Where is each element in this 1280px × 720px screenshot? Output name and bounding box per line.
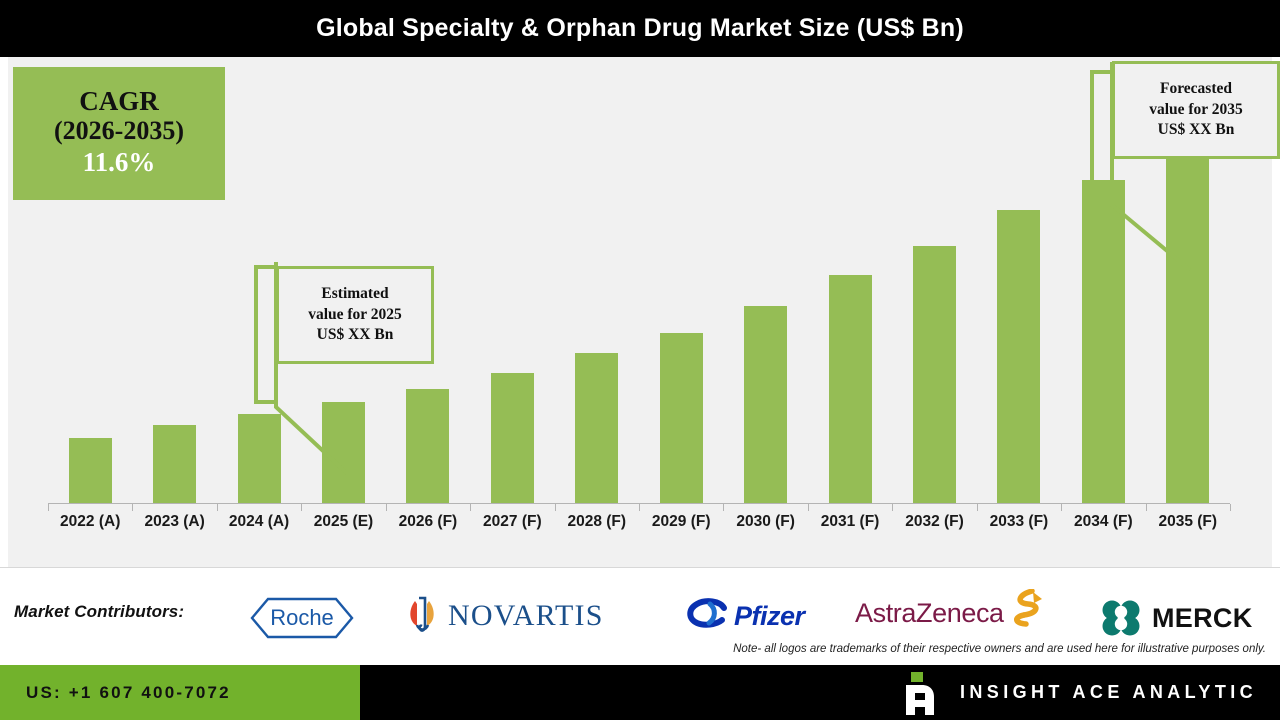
- pfizer-wordmark: Pfizer: [734, 601, 805, 632]
- x-axis-tick: [1061, 504, 1062, 511]
- market-contributors-label: Market Contributors:: [14, 602, 184, 622]
- bar-2032[interactable]: [913, 246, 956, 503]
- x-axis-tick: [723, 504, 724, 511]
- x-axis-tick: [470, 504, 471, 511]
- pfizer-swirl-icon: [686, 598, 730, 634]
- callout-forecasted-line1: Forecasted: [1160, 79, 1232, 99]
- footer-phone-number[interactable]: US: +1 607 400-7072: [26, 683, 231, 703]
- logo-roche: Roche: [250, 597, 354, 639]
- callout-estimated-line2: value for 2025: [308, 305, 402, 325]
- x-axis-tick: [639, 504, 640, 511]
- x-axis-tick: [217, 504, 218, 511]
- astrazeneca-ribbon-icon: [1002, 589, 1044, 629]
- page-title: Global Specialty & Orphan Drug Market Si…: [316, 14, 964, 43]
- footer-bar: US: +1 607 400-7072 INSIGHT ACE ANALYTIC: [0, 665, 1280, 720]
- bar-2028[interactable]: [575, 353, 618, 503]
- x-axis-tick: [808, 504, 809, 511]
- bar-2030[interactable]: [744, 306, 787, 503]
- bar-2031[interactable]: [829, 275, 872, 503]
- logo-astrazeneca: AstraZeneca: [855, 598, 1044, 629]
- bar-2035[interactable]: [1166, 137, 1209, 503]
- bar-2023[interactable]: [153, 425, 196, 503]
- x-axis-tick: [1230, 504, 1231, 511]
- callout-forecasted-2035: Forecasted value for 2035 US$ XX Bn: [1112, 61, 1280, 159]
- footer-brand-name: INSIGHT ACE ANALYTIC: [960, 682, 1257, 703]
- x-axis-tick: [301, 504, 302, 511]
- logo-novartis: NOVARTIS: [405, 596, 604, 636]
- callout-estimated-2025: Estimated value for 2025 US$ XX Bn: [276, 266, 434, 364]
- bar-2024[interactable]: [238, 414, 281, 503]
- market-contributors-strip: Market Contributors: Roche NOVARTIS Pfiz…: [0, 567, 1280, 665]
- bar-2025[interactable]: [322, 402, 365, 503]
- novartis-flame-icon: [405, 596, 439, 636]
- header-bar: Global Specialty & Orphan Drug Market Si…: [0, 0, 1280, 57]
- astrazeneca-wordmark: AstraZeneca: [855, 598, 1004, 629]
- footer-brand: INSIGHT ACE ANALYTIC: [900, 665, 1257, 720]
- merck-wordmark: MERCK: [1152, 603, 1253, 634]
- x-axis-tick: [892, 504, 893, 511]
- insight-ace-logo-shape: [900, 671, 940, 715]
- bar-2022[interactable]: [69, 438, 112, 503]
- roche-wordmark: Roche: [250, 597, 354, 639]
- x-axis-tick: [555, 504, 556, 511]
- roche-hexagon-icon: Roche: [250, 597, 354, 639]
- callout-estimated-line1: Estimated: [321, 284, 388, 304]
- bar-2033[interactable]: [997, 210, 1040, 503]
- callout-forecasted-line2: value for 2035: [1149, 100, 1243, 120]
- callout-forecasted-line3: US$ XX Bn: [1158, 120, 1235, 140]
- bar-2027[interactable]: [491, 373, 534, 503]
- x-axis-tick: [977, 504, 978, 511]
- x-axis-tick: [132, 504, 133, 511]
- x-axis-label-2035: 2035 (F): [1138, 513, 1238, 531]
- logo-pfizer: Pfizer: [686, 598, 805, 634]
- chart-panel: CAGR (2026-2035) 11.6% 2022 (A)2023 (A)2…: [0, 57, 1280, 567]
- logo-merck: MERCK: [1100, 598, 1253, 638]
- insight-ace-logo-icon: [900, 671, 940, 715]
- merck-clover-icon: [1100, 598, 1142, 638]
- callout-estimated-line3: US$ XX Bn: [317, 325, 394, 345]
- footer-phone-band: US: +1 607 400-7072: [0, 665, 360, 720]
- bar-2029[interactable]: [660, 333, 703, 503]
- novartis-wordmark: NOVARTIS: [448, 599, 604, 633]
- bar-chart: CAGR (2026-2035) 11.6% 2022 (A)2023 (A)2…: [8, 57, 1272, 567]
- logos-footnote: Note- all logos are trademarks of their …: [733, 643, 1266, 655]
- x-axis-tick: [386, 504, 387, 511]
- x-axis-tick: [48, 504, 49, 511]
- x-axis-tick: [1146, 504, 1147, 511]
- bar-2026[interactable]: [406, 389, 449, 503]
- bar-2034[interactable]: [1082, 180, 1125, 503]
- bars-group: [8, 57, 1272, 567]
